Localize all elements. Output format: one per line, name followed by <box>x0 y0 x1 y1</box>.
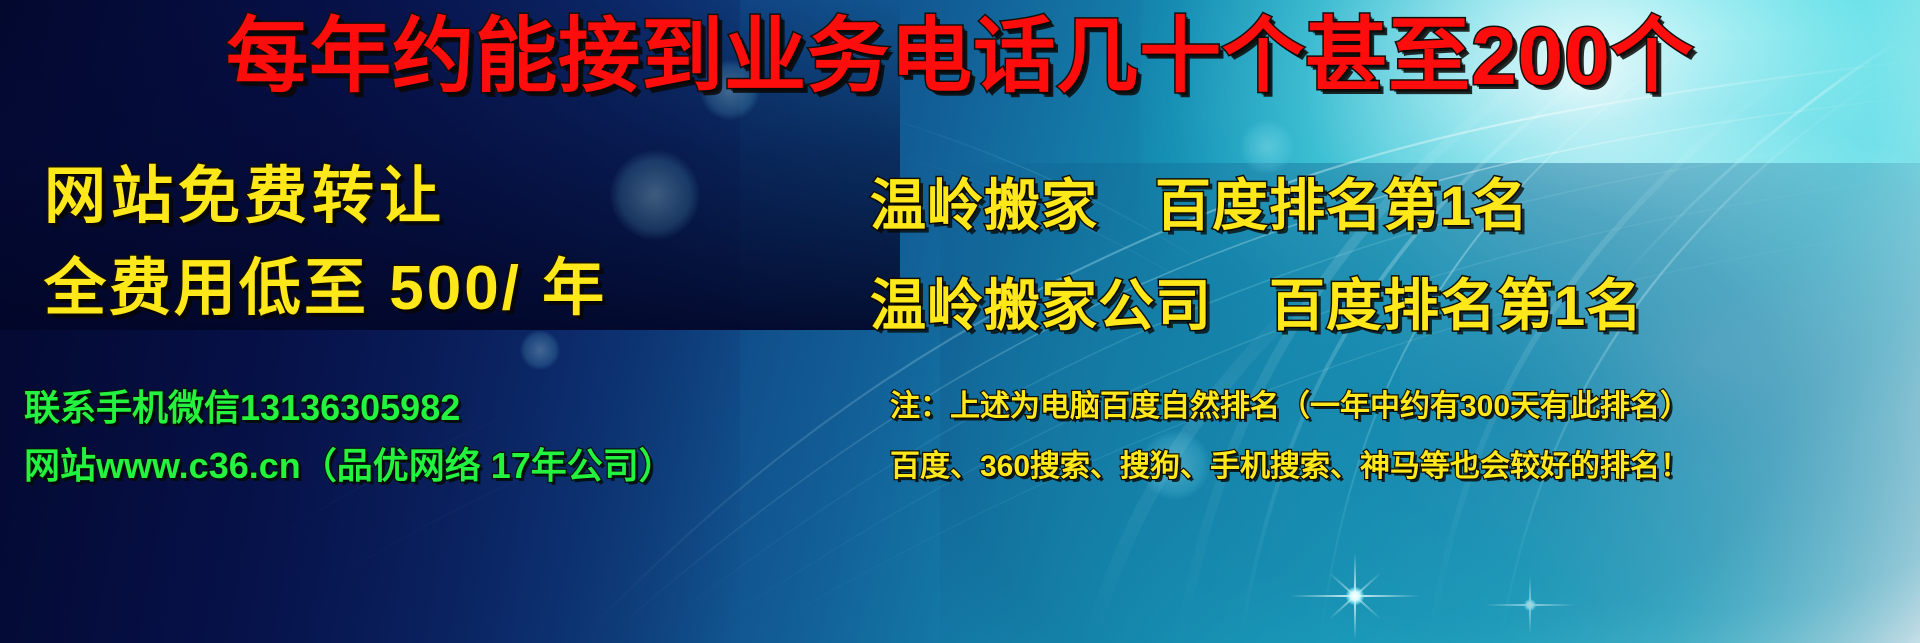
offer-line-1: 网站免费转让 <box>44 166 446 228</box>
ranking-line-2: 温岭搬家公司 百度排名第1名 <box>870 278 1643 334</box>
footnote-line-1: 注：上述为电脑百度自然排名（一年中约有300天有此排名） <box>890 392 1690 422</box>
banner-text-layer: 每年约能接到业务电话几十个甚至200个 网站免费转让 全费用低至 500/ 年 … <box>0 0 1920 643</box>
offer-line-2: 全费用低至 500/ 年 <box>44 258 607 320</box>
footnote-line-2: 百度、360搜索、搜狗、手机搜索、神马等也会较好的排名！ <box>890 452 1690 482</box>
banner-headline: 每年约能接到业务电话几十个甚至200个 <box>0 16 1920 98</box>
contact-website-line[interactable]: 网站www.c36.cn（品优网络 17年公司） <box>24 448 675 484</box>
advertisement-banner: 每年约能接到业务电话几十个甚至200个 网站免费转让 全费用低至 500/ 年 … <box>0 0 1920 643</box>
ranking-line-1: 温岭搬家 百度排名第1名 <box>870 178 1529 234</box>
contact-phone-line[interactable]: 联系手机微信13136305982 <box>24 390 460 426</box>
